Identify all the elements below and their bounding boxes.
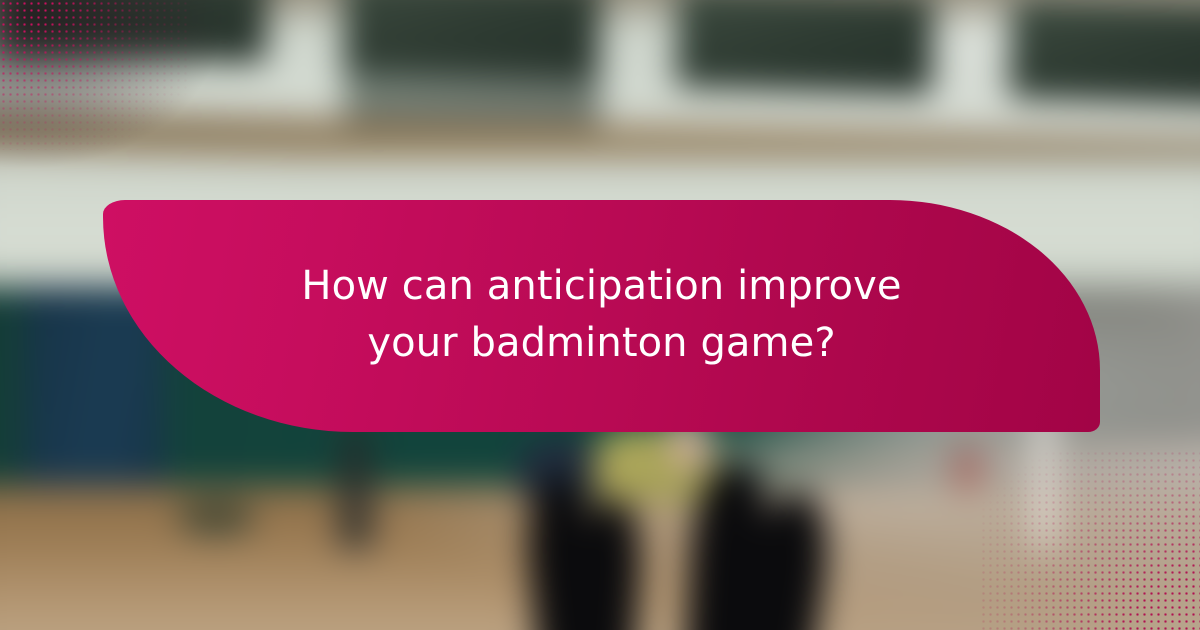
blurred-background-figure <box>338 422 374 550</box>
page-title: How can anticipation improve your badmin… <box>282 258 922 374</box>
blurred-equipment <box>178 500 255 536</box>
wall-panel <box>0 0 268 63</box>
social-card: How can anticipation improve your badmin… <box>0 0 1200 630</box>
headline-banner: How can anticipation improve your badmin… <box>103 200 1100 432</box>
wall-panel <box>675 0 934 95</box>
blurred-background-object <box>951 443 984 493</box>
wall-panel <box>1008 0 1200 106</box>
